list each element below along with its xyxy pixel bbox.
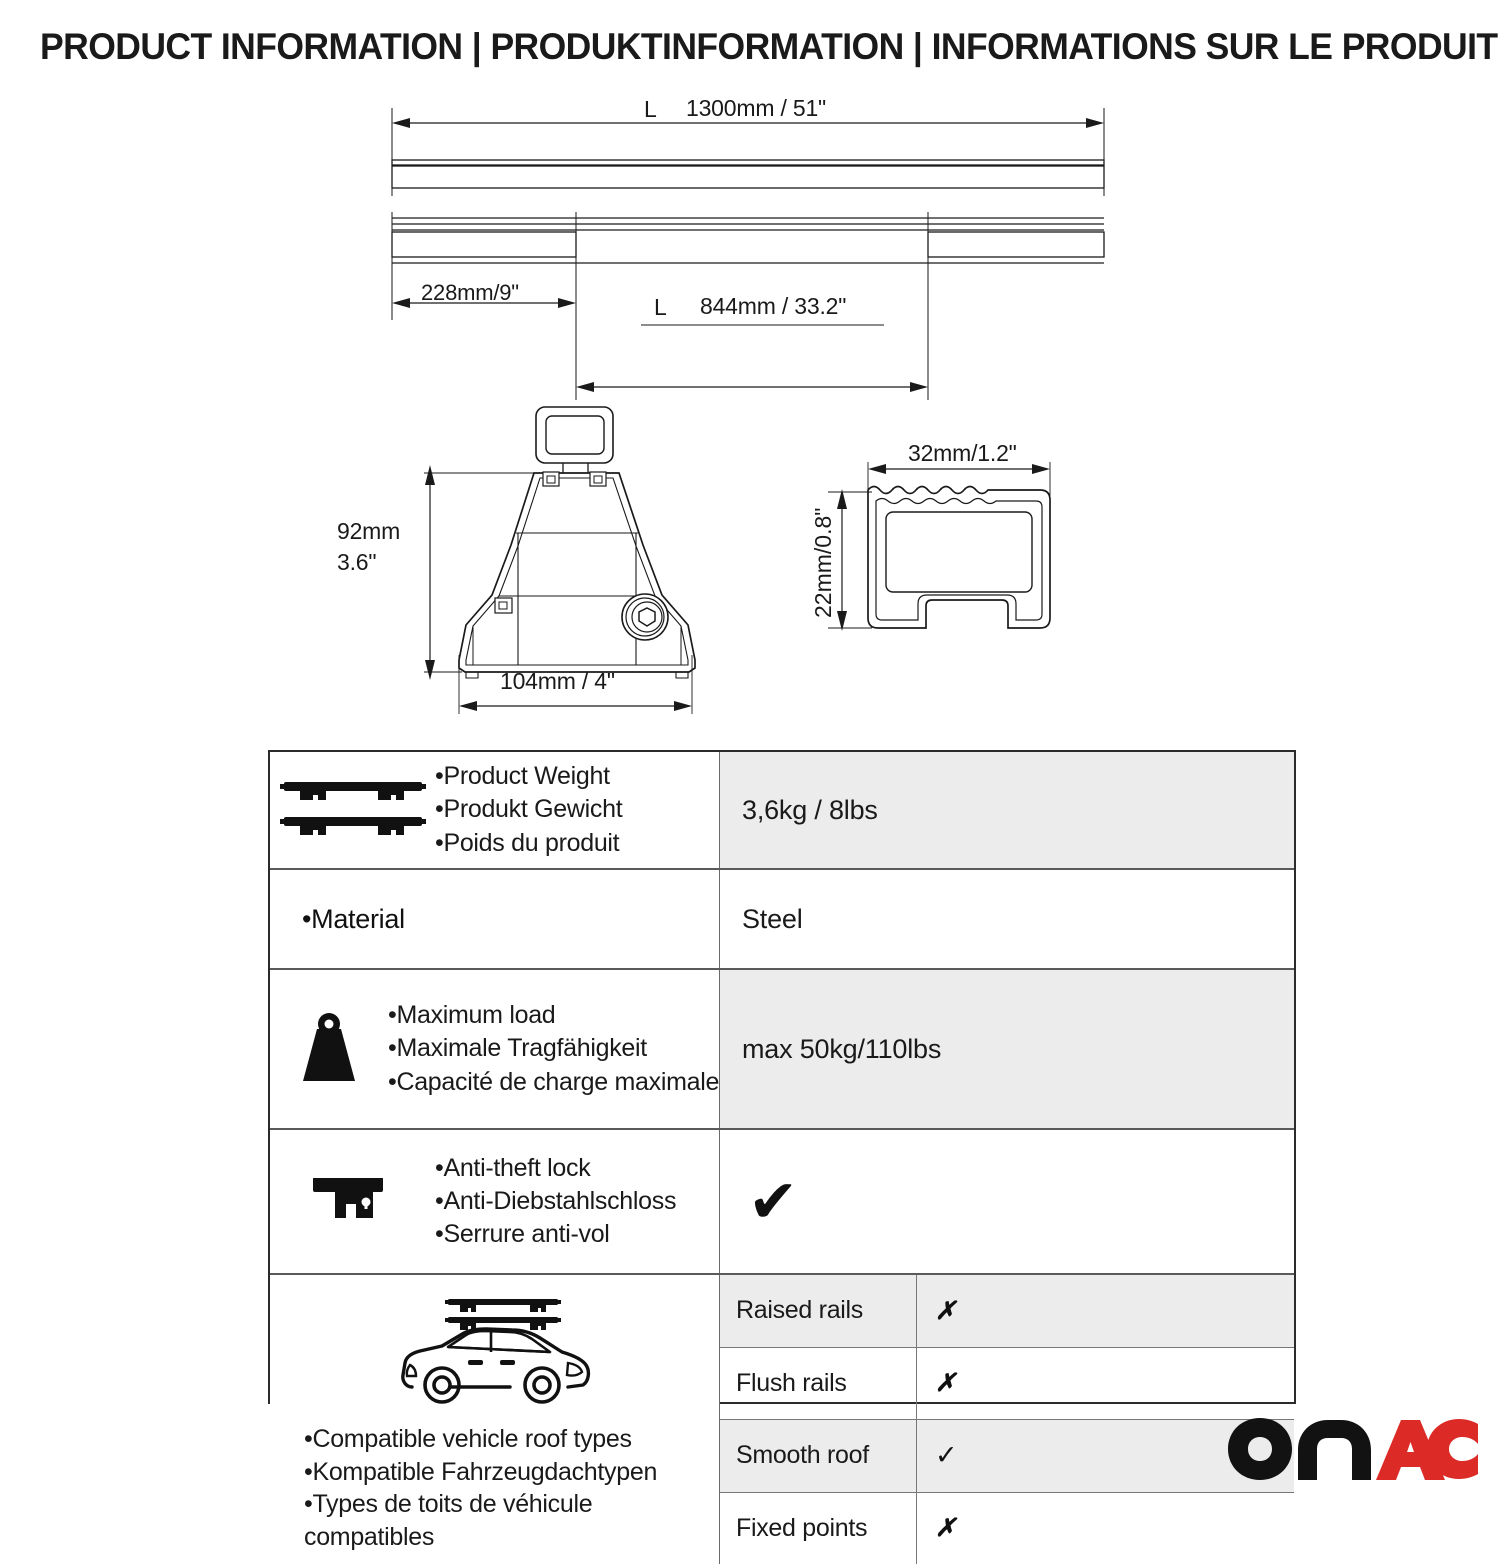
- anti-theft-labels: •Anti-theft lock •Anti-Diebstahlschloss …: [435, 1152, 676, 1252]
- compatibility-labels: •Compatible vehicle roof types •Kompatib…: [270, 1419, 657, 1553]
- roof-type-value: ✗: [917, 1493, 1294, 1564]
- check-icon: ✔: [748, 1172, 798, 1232]
- material-label: •Material: [270, 870, 720, 968]
- material-value: Steel: [720, 870, 1294, 968]
- weight-label-en: •Product Weight: [435, 760, 622, 793]
- anti-theft-value: ✔: [720, 1130, 1294, 1273]
- compat-label-en: •Compatible vehicle roof types: [304, 1423, 657, 1456]
- profile-height-value: 22mm/0.8": [810, 508, 837, 618]
- roof-type-row-raised-rails: Raised rails ✗: [720, 1275, 1294, 1348]
- anti-theft-label-en: •Anti-theft lock: [435, 1152, 676, 1185]
- span-value: 844mm / 33.2": [700, 293, 846, 320]
- roof-type-name: Smooth roof: [720, 1420, 917, 1492]
- max-load-label-en: •Maximum load: [388, 999, 719, 1032]
- table-row-max-load: •Maximum load •Maximale Tragfähigkeit •C…: [270, 970, 1294, 1130]
- technical-drawing: L 1300mm / 51" 228mm/9" L 844mm / 33.2" …: [0, 0, 1500, 740]
- omac-logo-mark: [1228, 1418, 1478, 1480]
- compat-label-de: •Kompatible Fahrzeugdachtypen: [304, 1456, 657, 1489]
- bar-length-value: 1300mm / 51": [686, 95, 826, 122]
- omac-logo: [1228, 1418, 1478, 1480]
- weight-label-de: •Produkt Gewicht: [435, 793, 622, 826]
- foot-height-mm: 92mm: [337, 518, 400, 545]
- roof-type-row-flush-rails: Flush rails ✗: [720, 1348, 1294, 1421]
- weight-label-fr: •Poids du produit: [435, 827, 622, 860]
- table-row-anti-theft: •Anti-theft lock •Anti-Diebstahlschloss …: [270, 1130, 1294, 1275]
- anti-theft-label-cell: •Anti-theft lock •Anti-Diebstahlschloss …: [270, 1130, 720, 1273]
- span-prefix: L: [654, 294, 667, 321]
- anti-theft-label-fr: •Serrure anti-vol: [435, 1218, 676, 1251]
- table-row-material: •Material Steel: [270, 870, 1294, 970]
- roof-type-name: Fixed points: [720, 1493, 917, 1564]
- max-load-label-de: •Maximale Tragfähigkeit: [388, 1032, 719, 1065]
- check-icon: ✓: [935, 1440, 958, 1471]
- cross-icon: ✗: [935, 1513, 956, 1543]
- max-load-labels: •Maximum load •Maximale Tragfähigkeit •C…: [388, 999, 719, 1099]
- profile-width-value: 32mm/1.2": [908, 440, 1017, 467]
- weight-label-cell: •Product Weight •Produkt Gewicht •Poids …: [270, 752, 720, 868]
- car-with-rack-icon: [390, 1289, 600, 1419]
- roof-type-value: ✗: [917, 1275, 1294, 1347]
- roof-type-value: ✗: [917, 1348, 1294, 1420]
- table-row-compatibility: •Compatible vehicle roof types •Kompatib…: [270, 1275, 1294, 1564]
- cross-icon: ✗: [935, 1368, 956, 1398]
- roof-type-name: Raised rails: [720, 1275, 917, 1347]
- roof-type-row-smooth-roof: Smooth roof ✓: [720, 1420, 1294, 1493]
- max-load-value: max 50kg/110lbs: [720, 970, 1294, 1128]
- max-load-label-fr: •Capacité de charge maximale: [388, 1066, 719, 1099]
- roof-type-name: Flush rails: [720, 1348, 917, 1420]
- crossbars-icon: [270, 775, 435, 845]
- foot-width-value: 104mm / 4": [500, 668, 615, 695]
- max-load-label-cell: •Maximum load •Maximale Tragfähigkeit •C…: [270, 970, 720, 1128]
- table-row-weight: •Product Weight •Produkt Gewicht •Poids …: [270, 752, 1294, 870]
- specification-table: •Product Weight •Produkt Gewicht •Poids …: [268, 750, 1296, 1404]
- cross-icon: ✗: [935, 1296, 956, 1326]
- roof-type-subtable: Raised rails ✗ Flush rails ✗ Smooth roof…: [720, 1275, 1294, 1564]
- anti-theft-label-de: •Anti-Diebstahlschloss: [435, 1185, 676, 1218]
- bar-length-prefix: L: [644, 96, 657, 123]
- weight-labels: •Product Weight •Produkt Gewicht •Poids …: [435, 760, 622, 860]
- compat-label-fr: •Types de toits de véhicule: [304, 1488, 657, 1521]
- compatibility-label-cell: •Compatible vehicle roof types •Kompatib…: [270, 1275, 720, 1564]
- weight-icon: [270, 1009, 388, 1089]
- lock-icon: [270, 1171, 435, 1233]
- foot-height-in: 3.6": [337, 549, 376, 576]
- weight-value: 3,6kg / 8lbs: [720, 752, 1294, 868]
- compat-label-fr-cont: compatibles: [304, 1521, 657, 1554]
- foot-offset-value: 228mm/9": [421, 280, 519, 306]
- roof-type-row-fixed-points: Fixed points ✗: [720, 1493, 1294, 1564]
